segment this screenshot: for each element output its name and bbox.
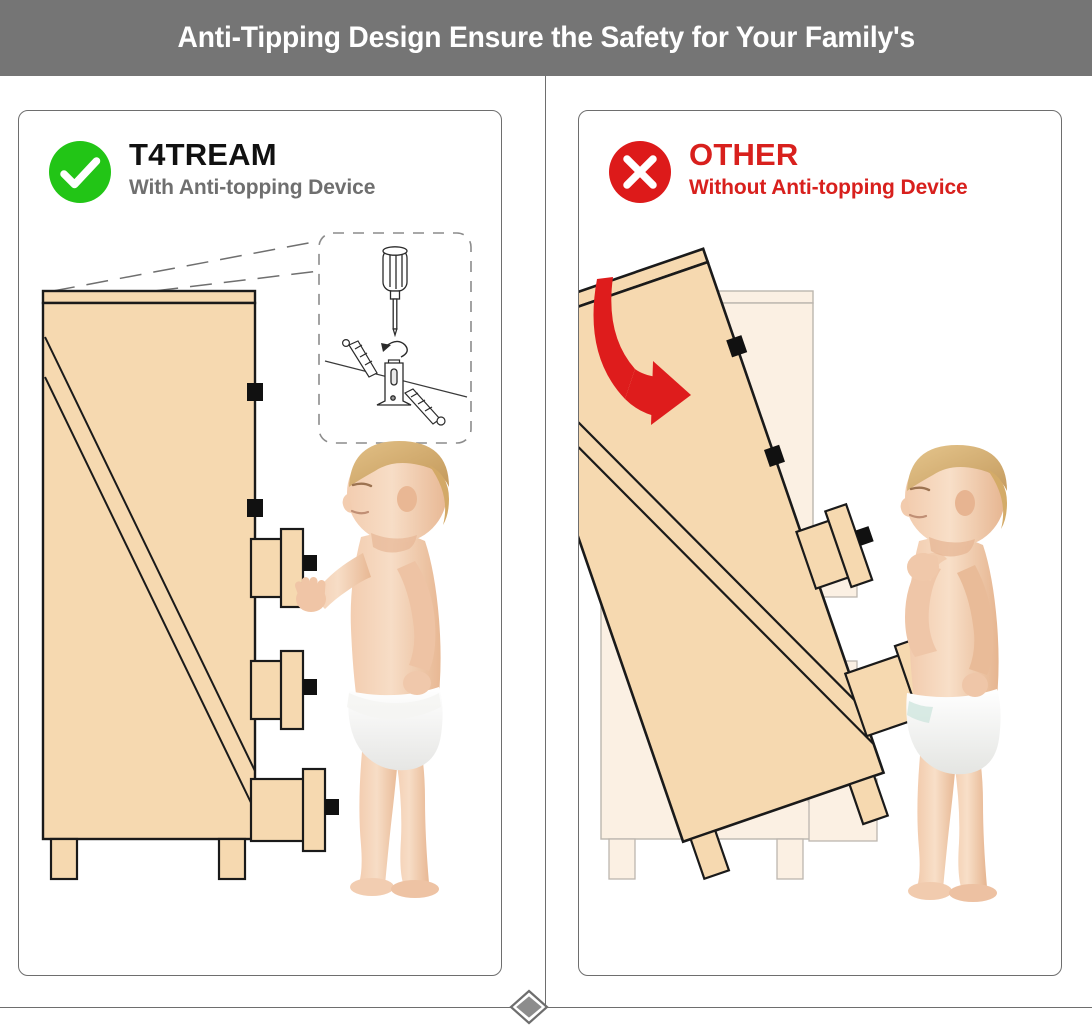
drawer-handle (303, 679, 317, 695)
open-drawer (251, 769, 339, 851)
open-drawer (251, 651, 317, 729)
panel-good: T4TREAM With Anti-topping Device (18, 110, 502, 976)
drawer-handle (325, 799, 339, 815)
panel-bad: OTHER Without Anti-topping Device (578, 110, 1062, 976)
dresser-leg (219, 839, 245, 879)
dresser-leg (51, 839, 77, 879)
drawer-handle (247, 383, 263, 401)
anti-tip-bracket-callout (319, 233, 471, 443)
diamond-ornament-icon (508, 986, 550, 1028)
page-title: Anti-Tipping Design Ensure the Safety fo… (177, 21, 915, 55)
drawer-handle (303, 555, 317, 571)
drawer-handle (247, 499, 263, 517)
dresser-body (43, 291, 263, 879)
header-banner: Anti-Tipping Design Ensure the Safety fo… (0, 0, 1092, 76)
illustration-tipping-dresser (579, 111, 1061, 975)
illustration-upright-dresser (19, 111, 501, 975)
baby-figure (901, 445, 1007, 902)
center-divider (545, 76, 546, 1008)
